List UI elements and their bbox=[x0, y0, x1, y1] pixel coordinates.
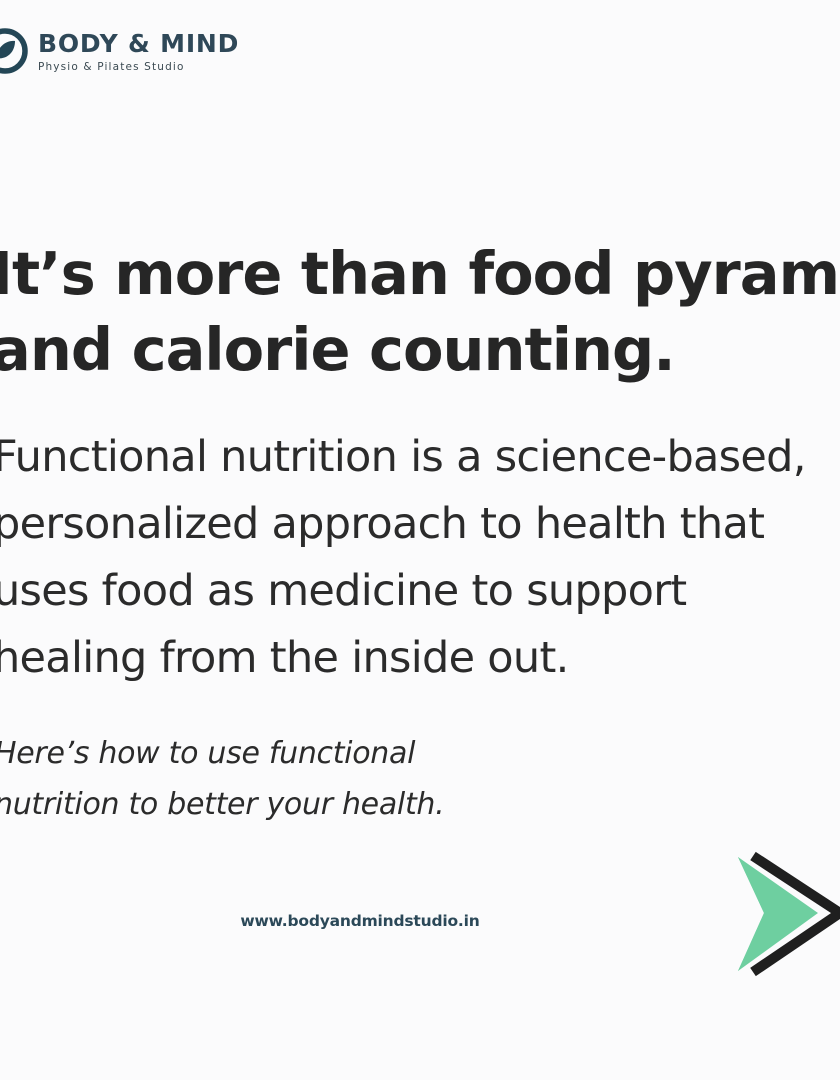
brand-tagline: Physio & Pilates Studio bbox=[38, 61, 239, 74]
circle-leaf-logo-icon bbox=[0, 28, 28, 74]
website-url[interactable]: www.bodyandmindstudio.in bbox=[0, 912, 840, 930]
body-line-2: personalized approach to health that bbox=[0, 491, 840, 558]
italic-note-line-2: nutrition to better your health. bbox=[0, 779, 694, 830]
slide-canvas: BODY & MIND Physio & Pilates Studio It’s… bbox=[0, 0, 840, 1080]
brand-title: BODY & MIND bbox=[38, 31, 239, 57]
body-paragraph: Functional nutrition is a science-based,… bbox=[0, 424, 840, 692]
chevron-right-arrow-icon[interactable] bbox=[722, 843, 840, 985]
brand-logo[interactable]: BODY & MIND Physio & Pilates Studio bbox=[0, 28, 239, 74]
body-line-1: Functional nutrition is a science-based, bbox=[0, 424, 840, 491]
brand-logo-text: BODY & MIND Physio & Pilates Studio bbox=[38, 29, 239, 74]
headline-line-1: It’s more than food pyramids bbox=[0, 236, 840, 312]
headline-line-2: and calorie counting. bbox=[0, 312, 840, 388]
italic-note-line-1: Here’s how to use functional bbox=[0, 728, 694, 779]
italic-note: Here’s how to use functional nutrition t… bbox=[0, 728, 694, 830]
body-line-3: uses food as medicine to support bbox=[0, 558, 840, 625]
body-line-4: healing from the inside out. bbox=[0, 625, 840, 692]
headline: It’s more than food pyramids and calorie… bbox=[0, 236, 840, 388]
